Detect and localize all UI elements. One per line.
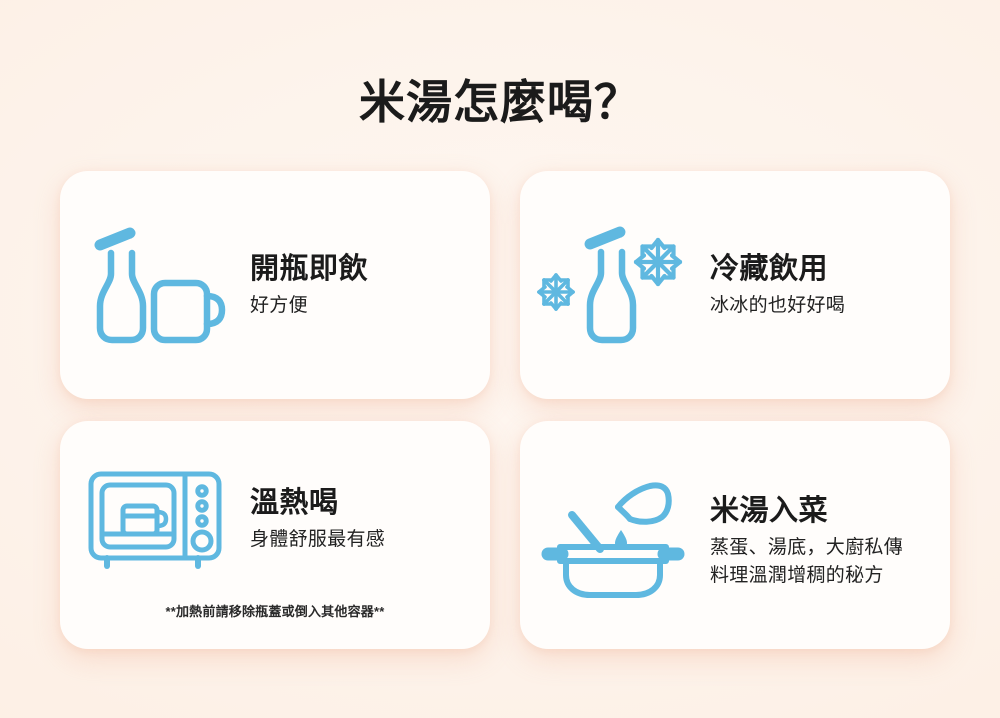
card-title: 米湯入菜 — [710, 492, 932, 530]
pot-pouring-icon — [520, 423, 710, 649]
card-title: 開瓶即飲 — [250, 250, 472, 288]
bottle-with-snowflakes-icon — [520, 171, 706, 399]
card-content: 溫熱喝 身體舒服最有感 — [60, 421, 490, 633]
card-text: 開瓶即飲 好方便 — [250, 250, 490, 320]
page-title: 米湯怎麼喝？ — [0, 74, 1000, 130]
snowflake-large — [636, 240, 680, 284]
card-drink-straight[interactable]: 開瓶即飲 好方便 — [60, 171, 490, 399]
infographic-page: 米湯怎麼喝？ 開瓶即飲 — [0, 0, 1000, 718]
card-subtitle: 身體舒服最有感 — [250, 526, 472, 554]
bottle-and-mug-icon — [60, 171, 250, 399]
card-subtitle-line-1: 蒸蛋、湯底，大廚私傳 — [710, 534, 932, 562]
card-subtitle: 好方便 — [250, 292, 472, 320]
card-text: 溫熱喝 身體舒服最有感 — [250, 484, 490, 554]
card-text: 米湯入菜 蒸蛋、湯底，大廚私傳 料理溫潤增稠的秘方 — [710, 492, 950, 590]
card-cooking[interactable]: 米湯入菜 蒸蛋、湯底，大廚私傳 料理溫潤增稠的秘方 — [520, 421, 950, 649]
snowflake-small — [539, 275, 573, 309]
card-subtitle-line-2: 料理溫潤增稠的秘方 — [710, 562, 932, 590]
card-content: 冷藏飲用 冰冰的也好好喝 — [520, 171, 950, 399]
card-title: 溫熱喝 — [250, 484, 472, 522]
card-content: 米湯入菜 蒸蛋、湯底，大廚私傳 料理溫潤增稠的秘方 — [520, 427, 950, 649]
card-text: 冷藏飲用 冰冰的也好好喝 — [710, 250, 950, 320]
card-grid: 開瓶即飲 好方便 — [60, 171, 950, 649]
card-warm[interactable]: 溫熱喝 身體舒服最有感 **加熱前請移除瓶蓋或倒入其他容器** — [60, 421, 490, 649]
card-title: 冷藏飲用 — [710, 250, 932, 288]
card-subtitle: 冰冰的也好好喝 — [710, 292, 932, 320]
card-note: **加熱前請移除瓶蓋或倒入其他容器** — [60, 603, 490, 621]
card-content: 開瓶即飲 好方便 — [60, 171, 490, 399]
card-chilled[interactable]: 冷藏飲用 冰冰的也好好喝 — [520, 171, 950, 399]
